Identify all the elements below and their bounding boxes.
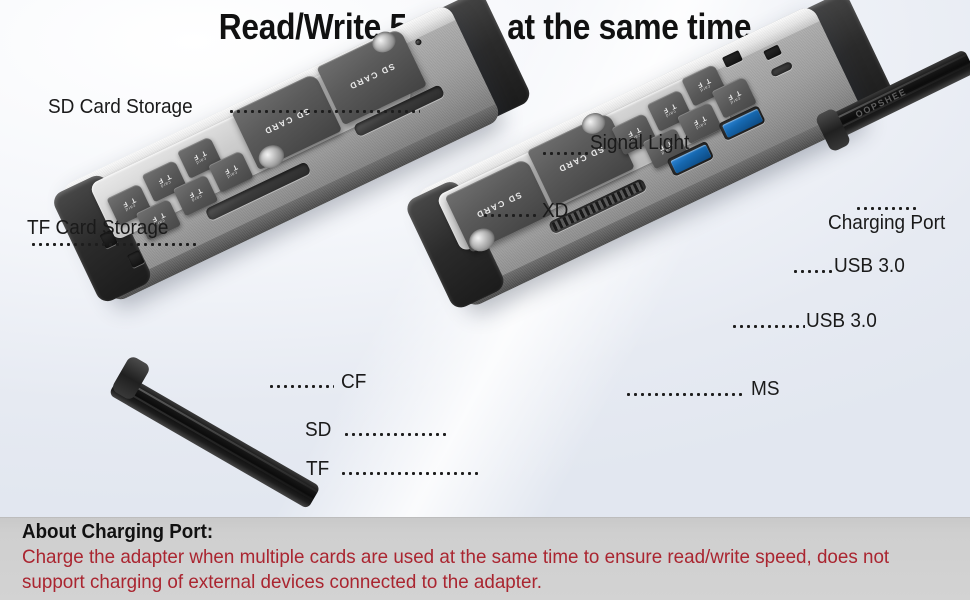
leader-xd [482, 214, 540, 217]
label-cf: CF [341, 371, 366, 394]
label-signal-light: Signal Light [590, 132, 689, 155]
label-usb-3-lower: USB 3.0 [806, 310, 877, 333]
label-sd: SD [305, 419, 331, 442]
label-usb-3-upper: USB 3.0 [834, 255, 905, 278]
label-charging-port: Charging Port [828, 212, 945, 235]
label-sd-card-storage: SD Card Storage [48, 96, 193, 119]
label-tf: TF [306, 458, 329, 481]
label-ms: MS [751, 378, 780, 401]
label-xd: XD [542, 200, 568, 223]
leader-cf [268, 385, 334, 388]
leader-sd-card-storage [228, 110, 420, 113]
infographic-canvas: Read/Write 5 cards at the same time SD C… [0, 0, 970, 600]
leader-signal-light [541, 152, 589, 155]
note-heading: About Charging Port: [22, 521, 213, 544]
leader-charging-port [855, 207, 917, 210]
leader-usb-3-upper [792, 270, 834, 273]
label-tf-card-storage: TF Card Storage [27, 217, 169, 240]
note-body: Charge the adapter when multiple cards a… [22, 545, 919, 595]
leader-tf-card-storage [30, 243, 200, 246]
leader-sd [343, 433, 449, 436]
leader-usb-3-lower [731, 325, 805, 328]
leader-ms [625, 393, 745, 396]
sd-card-text: SD CARD [347, 61, 396, 92]
leader-tf [340, 472, 482, 475]
